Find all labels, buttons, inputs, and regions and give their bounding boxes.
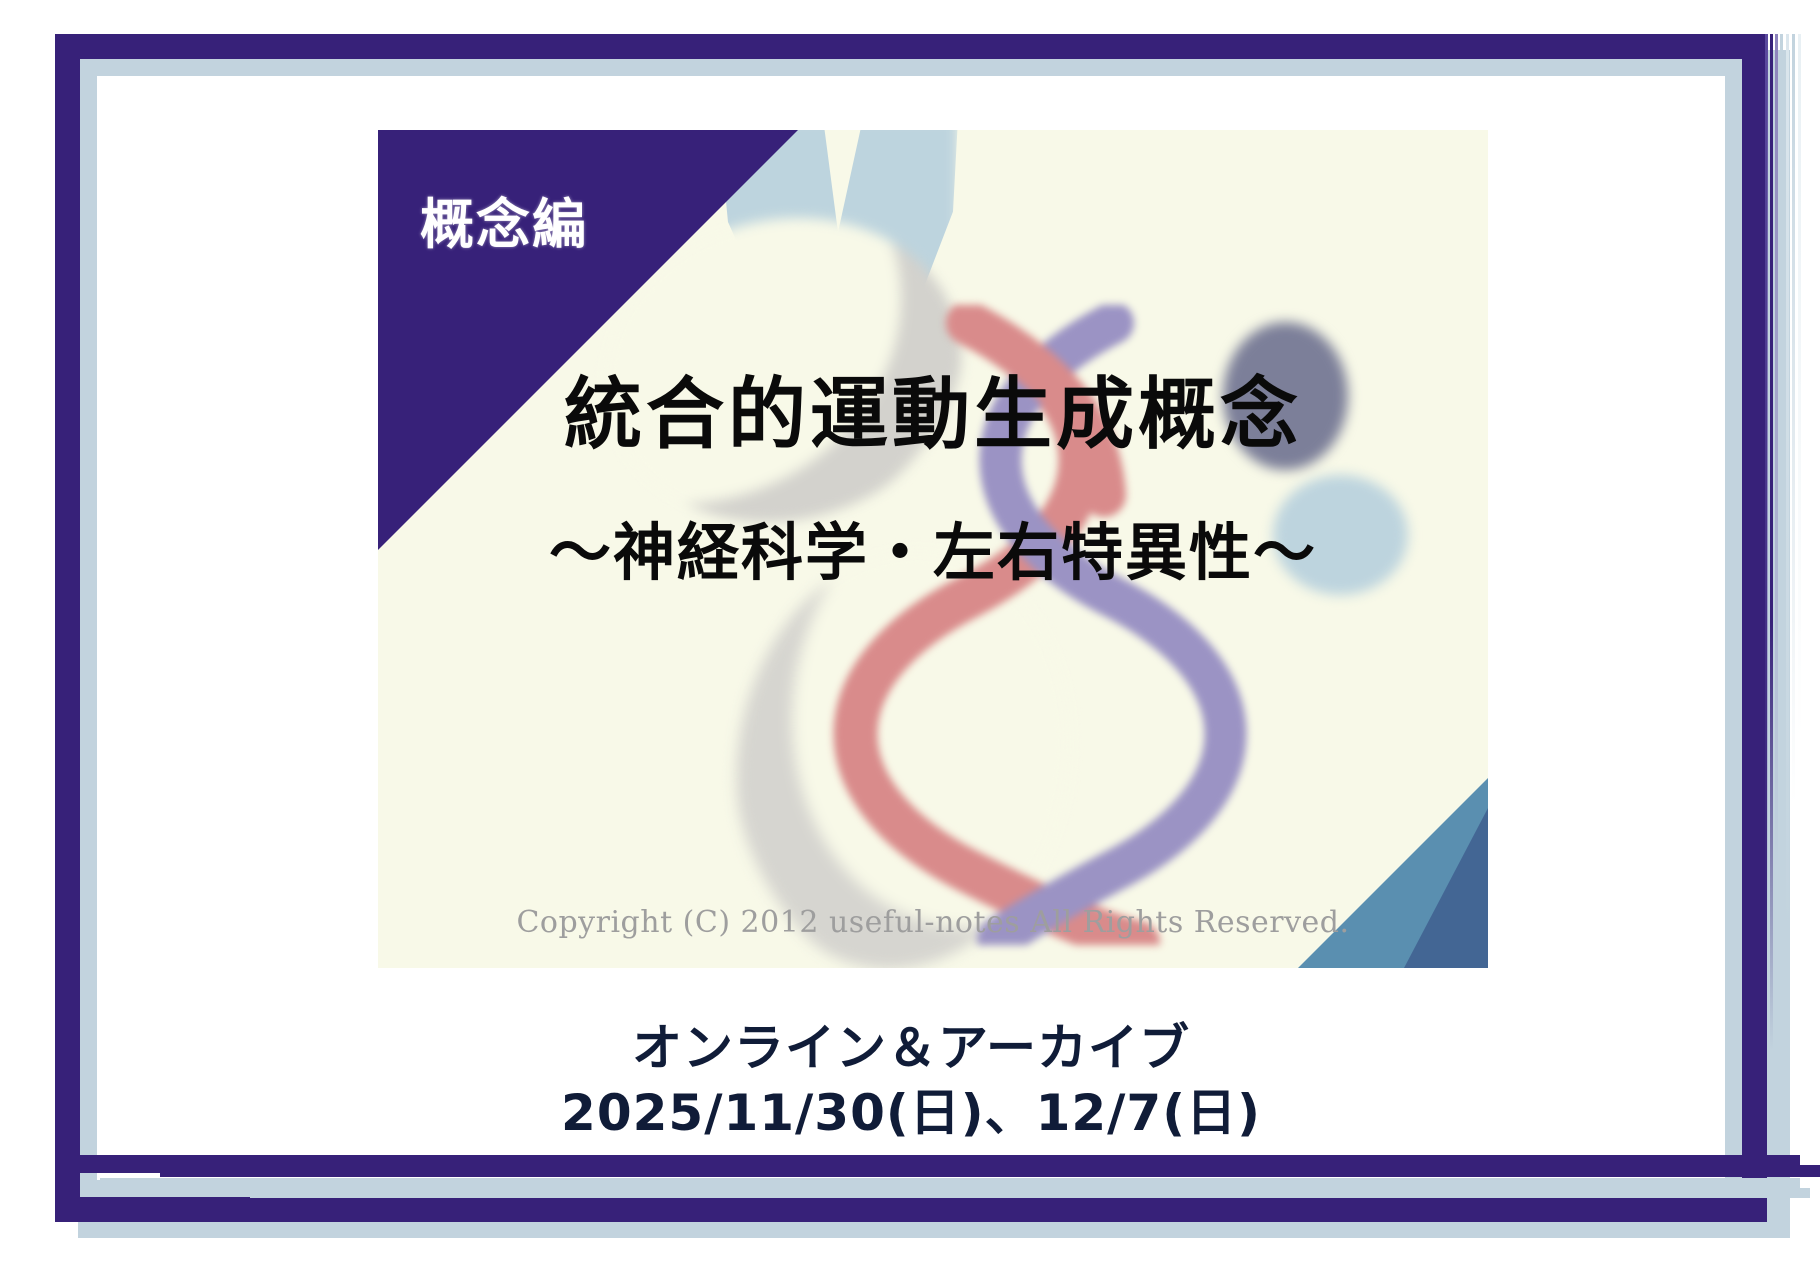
badge-concept-edition: 概念編 <box>420 180 588 259</box>
footer-line-format: オンライン＆アーカイブ <box>97 1016 1725 1081</box>
footer-line-dates: 2025/11/30(日)、12/7(日) <box>97 1081 1725 1146</box>
flyer-title-sub: 〜神経科学・左右特異性〜 <box>378 502 1488 592</box>
poster-content-area: 概念編 統合的運動生成概念 〜神経科学・左右特異性〜 Copyright (C)… <box>97 76 1725 1180</box>
flyer-title-main: 統合的運動生成概念 <box>378 352 1488 464</box>
copyright-text: Copyright (C) 2012 useful-notes All Righ… <box>378 905 1488 940</box>
flyer-card: 概念編 統合的運動生成概念 〜神経科学・左右特異性〜 Copyright (C)… <box>378 130 1488 968</box>
poster-stage: 概念編 統合的運動生成概念 〜神経科学・左右特異性〜 Copyright (C)… <box>0 0 1820 1280</box>
footer-block: オンライン＆アーカイブ 2025/11/30(日)、12/7(日) <box>97 1016 1725 1146</box>
